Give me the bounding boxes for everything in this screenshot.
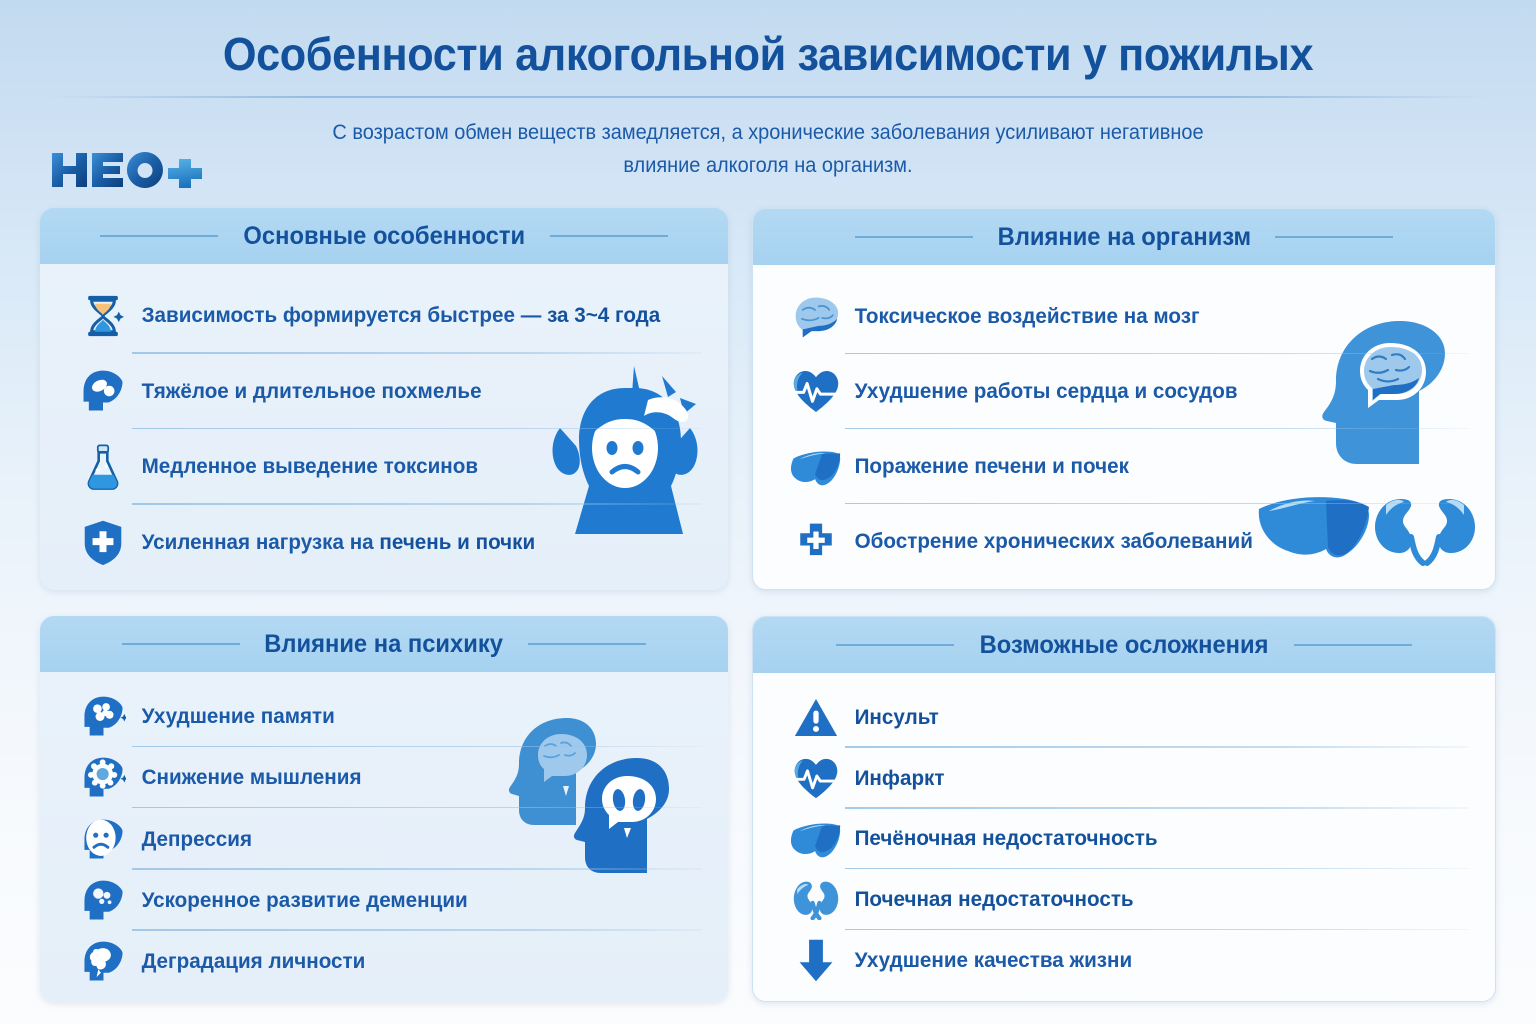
list-item-label: Депрессия [132,827,252,852]
header-rule-right [1294,644,1412,646]
page-subtitle: С возрастом обмен веществ замедляется, а… [293,116,1243,182]
head-fading-icon [74,873,132,927]
list-item-label: Обострение хронических заболеваний [845,529,1253,554]
head-degradation-icon [74,934,132,988]
list-item-label: Ухудшение качества жизни [845,948,1132,973]
feature-list: Токсическое воздействие на мозг Ухудшени… [753,279,1495,579]
list-item-label: Поражение печени и почек [845,454,1129,479]
feature-list: Зависимость формируется быстрее — за 3~4… [40,278,728,580]
title-divider [48,96,1488,98]
list-item[interactable]: Обострение хронических заболеваний [753,504,1495,579]
neo-plus-logo [48,147,208,193]
list-item-label: Усиленная нагрузка на печень и почки [132,530,535,555]
card-title: Влияние на психику [265,630,504,659]
list-item-label: Инфаркт [845,766,944,791]
header-rule-left [855,236,973,238]
feature-list: Ухудшение памяти [40,686,728,992]
list-item[interactable]: Поражение печени и почек [753,429,1495,504]
feature-list: Инсульт Инфаркт [753,687,1495,991]
card-main-features: Основные особенности [40,208,728,590]
list-item[interactable]: Печёночная недостаточность [753,809,1495,870]
heart-pulse-icon [787,751,845,805]
card-title: Основные особенности [243,222,525,251]
list-item-label: Зависимость формируется быстрее — за 3~4… [132,303,660,328]
card-body: Зависимость формируется быстрее — за 3~4… [40,264,728,590]
card-psyche-impact: Влияние на психику [40,616,728,1002]
heart-pulse-icon [787,365,845,419]
list-item-label: Инсульт [845,705,939,730]
header-rule-right [550,235,668,237]
head-pills-icon [74,364,132,418]
warning-triangle-icon [787,690,845,744]
list-item-label: Токсическое воздействие на мозг [845,304,1200,329]
card-header: Влияние на организм [753,209,1495,265]
list-item-label: Ускоренное развитие деменции [132,888,468,913]
list-item[interactable]: Токсическое воздействие на мозг [753,279,1495,354]
card-body: Токсическое воздействие на мозг Ухудшени… [753,265,1495,589]
liver-icon [787,440,845,494]
list-item-label: Деградация личности [132,949,365,974]
head-gear-icon [74,751,132,805]
list-item[interactable]: Медленное выведение токсинов [40,429,728,505]
card-header: Основные особенности [40,208,728,264]
list-item[interactable]: Тяжёлое и длительное похмелье [40,354,728,430]
cross-medical-icon [787,515,845,569]
card-body: Ухудшение памяти [40,672,728,1002]
list-item[interactable]: Зависимость формируется быстрее — за 3~4… [40,278,728,354]
list-item[interactable]: Ускоренное развитие деменции [40,870,728,931]
down-arrow-icon [787,934,845,988]
card-body: Инсульт Инфаркт [753,673,1495,1001]
kidneys-icon [787,873,845,927]
header-rule-right [528,643,646,645]
card-header: Возможные осложнения [753,617,1495,673]
shield-cross-icon [74,515,132,569]
page-header: Особенности алкогольной зависимости у по… [0,0,1536,205]
list-item[interactable]: Почечная недостаточность [753,869,1495,930]
head-sad-icon [74,812,132,866]
page-title: Особенности алкогольной зависимости у по… [46,27,1490,81]
card-body-impact: Влияние на организм [752,208,1496,590]
list-item-label: Медленное выведение токсинов [132,454,478,479]
list-item[interactable]: Ухудшение качества жизни [753,930,1495,991]
header-rule-left [836,644,954,646]
list-item-label: Ухудшение работы сердца и сосудов [845,379,1238,404]
list-item[interactable]: Усиленная нагрузка на печень и почки [40,505,728,581]
list-item[interactable]: Ухудшение памяти [40,686,728,747]
list-item-label: Снижение мышления [132,765,361,790]
list-item[interactable]: Инфаркт [753,748,1495,809]
head-memory-icon [74,690,132,744]
header-rule-right [1275,236,1393,238]
list-item[interactable]: Ухудшение работы сердца и сосудов [753,354,1495,429]
list-item-label: Печёночная недостаточность [845,826,1158,851]
list-item[interactable]: Деградация личности [40,931,728,992]
card-title: Влияние на организм [997,223,1250,252]
list-item[interactable]: Инсульт [753,687,1495,748]
card-header: Влияние на психику [40,616,728,672]
list-item-label: Тяжёлое и длительное похмелье [132,379,482,404]
header-rule-left [100,235,218,237]
list-item-label: Почечная недостаточность [845,887,1134,912]
flask-icon [74,440,132,494]
brain-icon [787,290,845,344]
list-item[interactable]: Снижение мышления [40,747,728,808]
list-item-label: Ухудшение памяти [132,704,335,729]
hourglass-icon [74,289,132,343]
card-title: Возможные осложнения [980,631,1269,660]
list-item[interactable]: Депрессия [40,808,728,869]
header-rule-left [122,643,240,645]
card-possible-complications: Возможные осложнения Инсульт [752,616,1496,1002]
liver-icon [787,812,845,866]
